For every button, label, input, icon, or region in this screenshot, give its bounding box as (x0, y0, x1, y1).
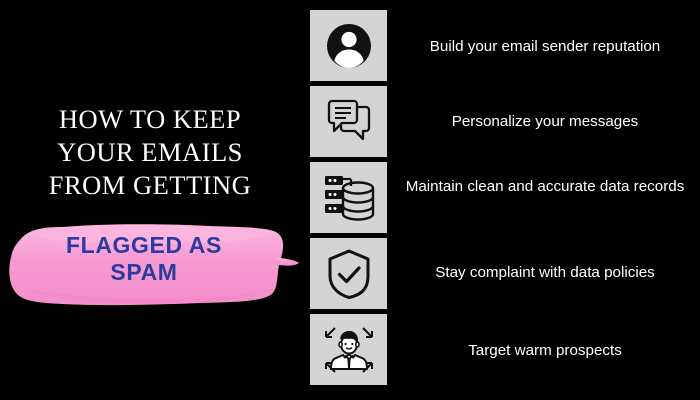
tip-label-3: Maintain clean and accurate data records (390, 176, 700, 197)
shield-check-icon (325, 248, 373, 300)
infographic-canvas: HOW TO KEEP YOUR EMAILS FROM GETTING (0, 0, 700, 400)
tip-icon-box-1 (310, 10, 387, 81)
tip-icon-box-5 (310, 314, 387, 385)
tip-label-4: Stay complaint with data policies (390, 262, 700, 283)
person-target-arrows-icon (322, 324, 376, 376)
tip-label-5: Target warm prospects (390, 340, 700, 361)
chat-bubbles-icon (323, 98, 375, 146)
database-server-icon (322, 173, 376, 223)
icon-column (310, 10, 387, 390)
page-title: HOW TO KEEP YOUR EMAILS FROM GETTING (0, 103, 300, 202)
tip-icon-box-2 (310, 86, 387, 157)
badge-line-2: SPAM (4, 259, 284, 286)
tip-label-1: Build your email sender reputation (390, 36, 700, 57)
badge-line-1: FLAGGED AS (4, 232, 284, 259)
tip-label-2: Personalize your messages (390, 111, 700, 132)
headline-line-3: FROM GETTING (0, 169, 300, 202)
tip-icon-box-3 (310, 162, 387, 233)
tip-icon-box-4 (310, 238, 387, 309)
headline-line-2: YOUR EMAILS (0, 136, 300, 169)
title-panel: HOW TO KEEP YOUR EMAILS FROM GETTING (0, 0, 300, 400)
user-avatar-icon (323, 20, 375, 72)
tip-label-list: Build your email sender reputation Perso… (390, 0, 700, 400)
badge-label: FLAGGED AS SPAM (4, 232, 284, 286)
headline-line-1: HOW TO KEEP (0, 103, 300, 136)
highlight-badge: FLAGGED AS SPAM (4, 218, 300, 310)
